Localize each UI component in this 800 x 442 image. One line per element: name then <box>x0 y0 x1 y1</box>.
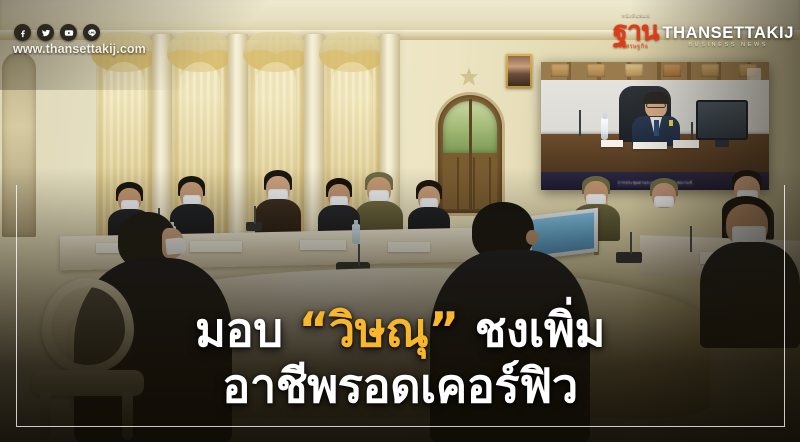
face-mask <box>165 237 187 255</box>
ornate-chair <box>28 278 146 438</box>
cabinet-item <box>701 64 719 77</box>
attendee-ear <box>526 230 538 245</box>
document-stack <box>300 240 346 250</box>
screen-monitor <box>696 100 748 140</box>
royal-portrait <box>506 54 532 88</box>
chair-back <box>42 278 134 374</box>
microphone-arm <box>690 226 692 252</box>
twitter-icon[interactable] <box>37 24 54 41</box>
foreground-attendee-center <box>430 202 590 442</box>
news-image-card: การประชุมผ่านระบบวิดีโอคอนเฟอเรนซ์ <box>0 0 800 442</box>
speaker-tie <box>654 120 659 136</box>
logo-thai-name: ฐาน <box>613 20 659 43</box>
screen-microphone <box>579 110 581 136</box>
screen-speaker <box>633 94 679 144</box>
foreground-attendee-right <box>700 196 800 346</box>
screen-cabinet <box>541 62 769 80</box>
attendee-military <box>355 172 403 238</box>
screen-water-bottle <box>601 118 608 140</box>
attendee-suit <box>430 250 590 442</box>
cabinet-item <box>663 64 681 77</box>
attendee-military <box>640 178 688 240</box>
screen-microphone <box>691 122 693 140</box>
youtube-icon[interactable] <box>60 24 77 41</box>
speaker-lapel-pin <box>669 120 673 126</box>
wall-mirror <box>2 52 36 237</box>
speaker-glasses <box>646 103 666 108</box>
microphone-arm <box>630 232 632 254</box>
cabinet-item <box>551 64 569 77</box>
website-url[interactable]: www.thansettakij.com <box>13 42 146 56</box>
social-media-bar <box>14 24 100 41</box>
microphone-arm <box>358 244 360 266</box>
publication-logo: หนังสือพิมพ์ ฐาน เศรษฐกิจ THANSETTAKIJ B… <box>613 14 794 50</box>
chair-leg <box>40 392 51 440</box>
cabinet-item <box>625 64 643 77</box>
document-stack <box>388 242 430 252</box>
screen-document <box>601 140 623 147</box>
logo-english-sub: BUSINESS NEWS <box>662 42 794 48</box>
chair-leg <box>122 392 133 440</box>
water-bottle <box>352 224 360 244</box>
screen-document <box>673 140 699 148</box>
broadcast-logo <box>747 68 761 80</box>
facebook-icon[interactable] <box>14 24 31 41</box>
door-mullion <box>469 99 472 209</box>
line-icon[interactable] <box>83 24 100 41</box>
desk-microphone <box>616 252 642 263</box>
logo-english-name: THANSETTAKIJ <box>662 25 794 42</box>
cabinet-item <box>587 64 605 77</box>
meeting-room-photo: การประชุมผ่านระบบวิดีโอคอนเฟอเรนซ์ <box>0 0 800 442</box>
screen-document <box>633 142 667 149</box>
microphone-arm <box>254 206 256 224</box>
